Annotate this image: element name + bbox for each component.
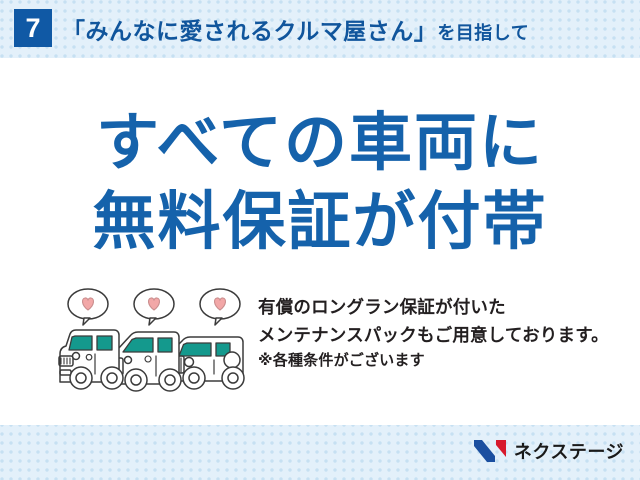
headline-line-1: すべての車両に <box>0 112 640 175</box>
content-panel: すべての車両に 無料保証が付帯 <box>0 58 640 425</box>
header-title: 「みんなに愛されるクルマ屋さん」を目指して <box>62 12 529 46</box>
heart-bubble-3 <box>200 289 240 325</box>
cars-illustration <box>56 286 252 396</box>
heart-bubble-1 <box>68 289 108 325</box>
body-note: ※各種条件がございます <box>258 349 630 373</box>
headline-line-2: 無料保証が付帯 <box>0 191 640 254</box>
brand-logo: ネクステージ <box>473 438 624 464</box>
lower-section: 有償のロングラン保証が付いた メンテナンスパックもご用意しております。 ※各種条… <box>0 286 640 421</box>
body-text-block: 有償のロングラン保証が付いた メンテナンスパックもご用意しております。 ※各種条… <box>258 294 630 373</box>
section-number-badge: 7 <box>14 9 52 47</box>
advertisement-page: 7 「みんなに愛されるクルマ屋さん」を目指して すべての車両に 無料保証が付帯 <box>0 0 640 480</box>
heart-bubble-2 <box>134 289 174 325</box>
header-title-quoted: 「みんなに愛されるクルマ屋さん」 <box>62 18 437 44</box>
body-line-2: メンテナンスパックもご用意しております。 <box>258 322 630 350</box>
body-line-1: 有償のロングラン保証が付いた <box>258 294 630 322</box>
header-title-suffix: を目指して <box>437 23 529 43</box>
footer-band: ネクステージ <box>0 425 640 480</box>
nextage-n-mark <box>473 439 507 463</box>
brand-name: ネクステージ <box>514 438 624 464</box>
car-kei-van <box>59 330 123 389</box>
header-band: 7 「みんなに愛されるクルマ屋さん」を目指して <box>0 0 640 58</box>
